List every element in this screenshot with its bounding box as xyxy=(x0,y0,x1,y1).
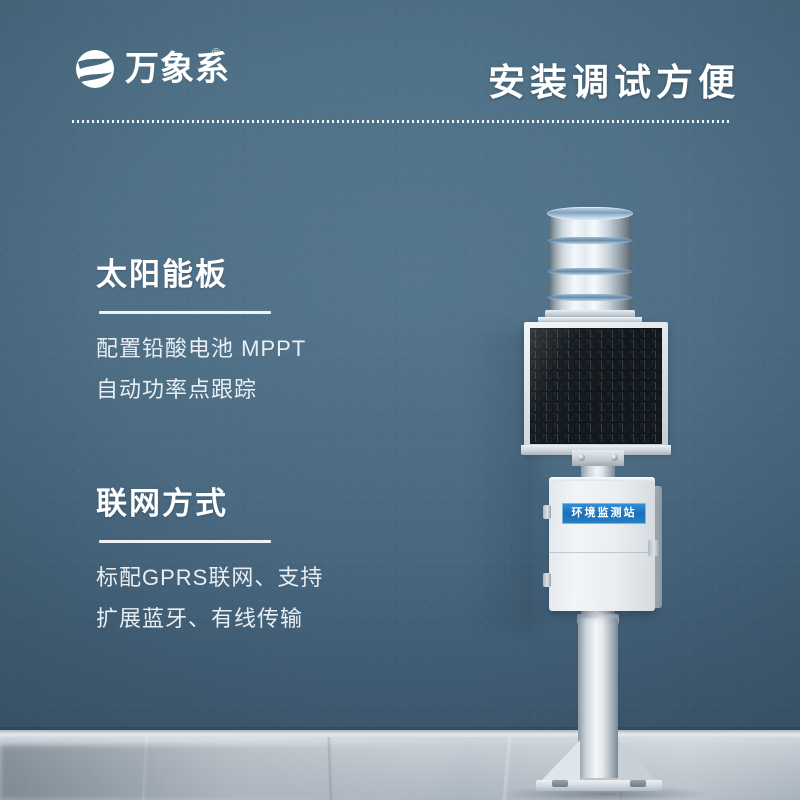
feature-line: 自动功率点跟踪 xyxy=(96,370,306,411)
registered-mark-icon: ® xyxy=(212,47,220,59)
feature-underline xyxy=(99,311,271,314)
dotted-divider xyxy=(72,120,732,123)
feature-title: 太阳能板 xyxy=(96,258,306,292)
page-title: 安装调试方便 xyxy=(488,52,740,106)
feature-underline xyxy=(99,540,271,543)
feature-title: 联网方式 xyxy=(96,487,323,521)
globe-swoosh-logo-icon xyxy=(74,48,116,90)
product-banner: 万象系 ® 安装调试方便 太阳能板 配置铅酸电池 MPPT 自动功率点跟踪 联网… xyxy=(0,0,800,800)
floor xyxy=(0,737,800,800)
brand-logo: 万象系 xyxy=(74,48,230,90)
feature-line: 扩展蓝牙、有线传输 xyxy=(96,599,323,640)
feature-block-solar-panel: 太阳能板 配置铅酸电池 MPPT 自动功率点跟踪 xyxy=(96,258,306,410)
feature-block-connectivity: 联网方式 标配GPRS联网、支持 扩展蓝牙、有线传输 xyxy=(96,487,323,639)
feature-line: 配置铅酸电池 MPPT xyxy=(96,329,306,370)
feature-line: 标配GPRS联网、支持 xyxy=(96,558,323,599)
floor-shadow-left xyxy=(0,745,420,800)
